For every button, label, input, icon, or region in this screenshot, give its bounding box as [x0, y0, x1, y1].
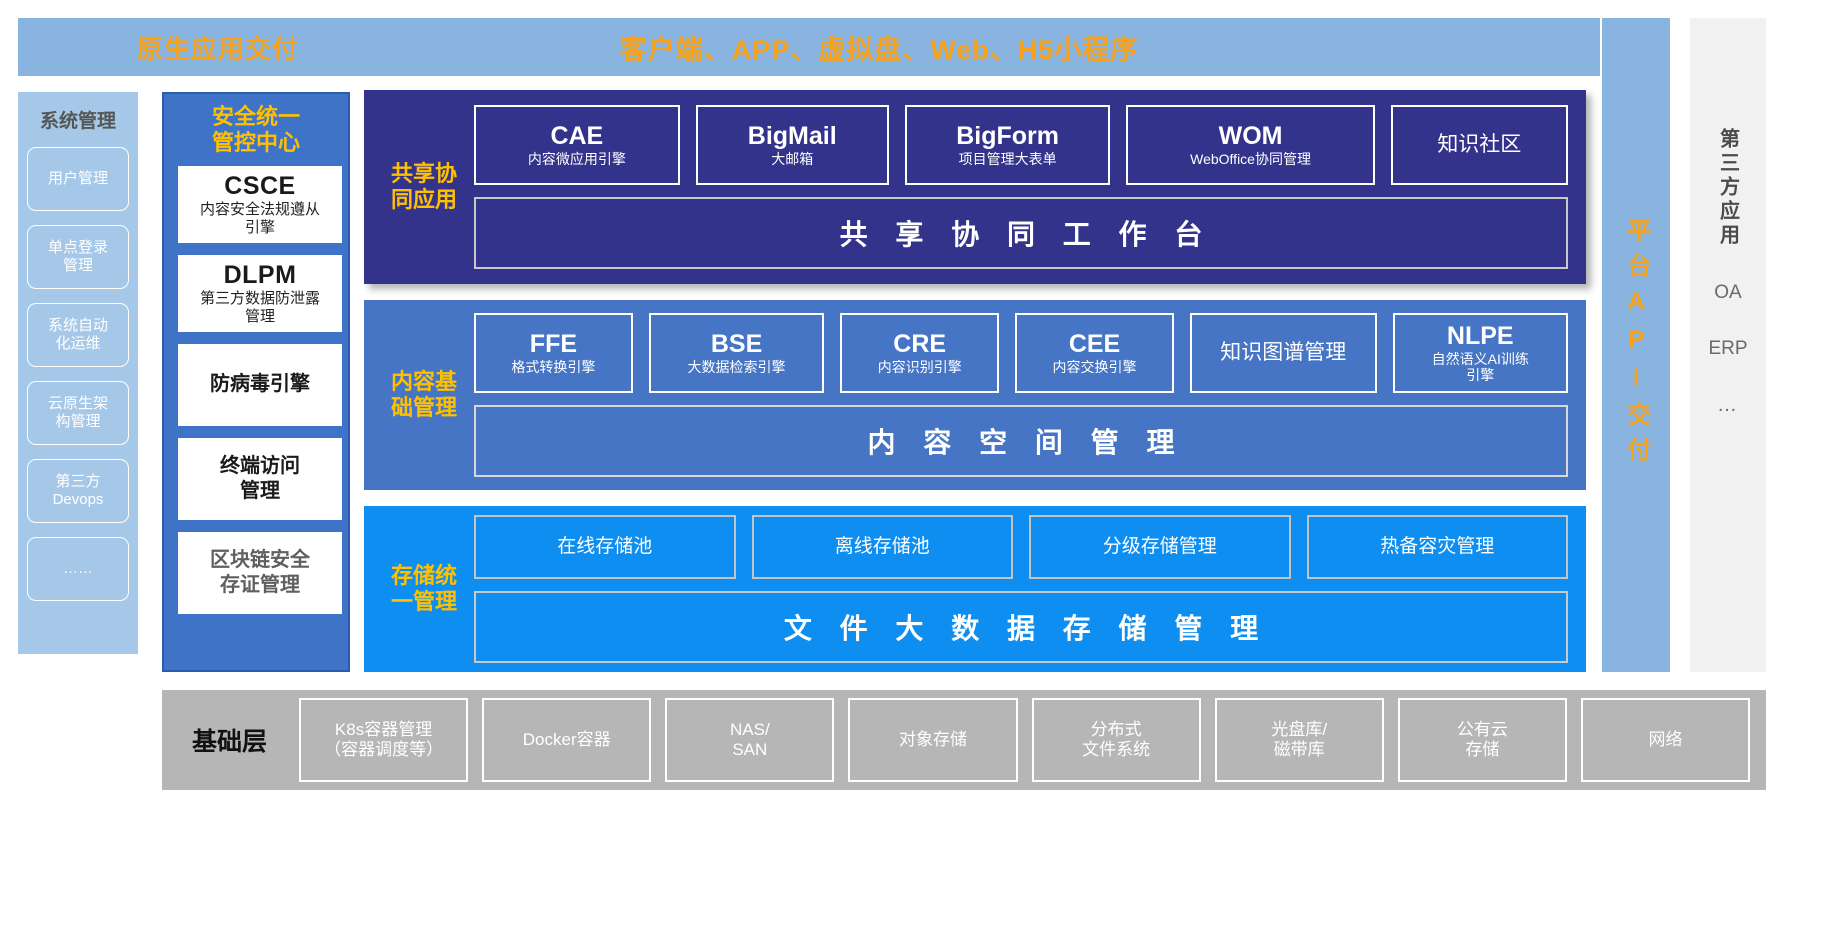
third-party-item-oa[interactable]: OA — [1714, 282, 1741, 304]
sidebar-item-more[interactable]: …… — [27, 537, 129, 601]
chip-nlpe[interactable]: NLPE 自然语义AI训练 引擎 — [1393, 313, 1568, 393]
storage-panel-label: 存储统 一管理 — [364, 563, 470, 614]
system-management-column: 系统管理 用户管理 单点登录 管理 系统自动 化运维 云原生架 构管理 第三方 … — [18, 92, 138, 654]
chip-bigform[interactable]: BigForm 项目管理大表单 — [905, 105, 1111, 185]
infra-chip-public-cloud-storage[interactable]: 公有云 存储 — [1398, 698, 1567, 782]
chip-cae[interactable]: CAE 内容微应用引擎 — [474, 105, 680, 185]
security-item-csce[interactable]: CSCE 内容安全法规遵从 引擎 — [178, 166, 342, 243]
cae-code: CAE — [550, 123, 603, 151]
bse-code: BSE — [711, 331, 762, 359]
bigmail-desc: 大邮箱 — [771, 151, 813, 167]
chip-ffe[interactable]: FFE 格式转换引擎 — [474, 313, 633, 393]
architecture-diagram: 原生应用交付 客户端、APP、虚拟盘、Web、H5小程序 系统管理 用户管理 单… — [0, 0, 1823, 928]
cre-desc: 内容识别引擎 — [878, 359, 962, 375]
collab-panel-label: 共享协 同应用 — [364, 161, 470, 212]
chip-knowledge-community[interactable]: 知识社区 — [1391, 105, 1568, 185]
wom-desc: WebOffice协同管理 — [1190, 151, 1311, 167]
bse-desc: 大数据检索引擎 — [688, 359, 786, 375]
sidebar-item-sso-management[interactable]: 单点登录 管理 — [27, 225, 129, 289]
bigform-desc: 项目管理大表单 — [959, 151, 1057, 167]
content-foundation-panel: 内容基 础管理 FFE 格式转换引擎 BSE 大数据检索引擎 CRE 内容识别引… — [364, 300, 1586, 490]
chip-cre[interactable]: CRE 内容识别引擎 — [840, 313, 999, 393]
platform-api-delivery-column: 平台API交付 — [1602, 18, 1670, 672]
chip-tiered-storage[interactable]: 分级存储管理 — [1029, 515, 1291, 579]
content-chip-row: FFE 格式转换引擎 BSE 大数据检索引擎 CRE 内容识别引擎 CEE 内容… — [474, 313, 1568, 393]
cee-desc: 内容交换引擎 — [1053, 359, 1137, 375]
security-item-terminal-access[interactable]: 终端访问 管理 — [178, 438, 342, 520]
tiered-storage-label: 分级存储管理 — [1103, 537, 1217, 558]
bigform-code: BigForm — [956, 123, 1059, 151]
chip-cee[interactable]: CEE 内容交换引擎 — [1015, 313, 1174, 393]
bigmail-code: BigMail — [748, 123, 837, 151]
shared-collaboration-panel: 共享协 同应用 CAE 内容微应用引擎 BigMail 大邮箱 BigForm … — [364, 90, 1586, 284]
top-delivery-banner: 原生应用交付 客户端、APP、虚拟盘、Web、H5小程序 — [18, 18, 1600, 76]
chip-bigmail[interactable]: BigMail 大邮箱 — [696, 105, 889, 185]
csce-desc: 内容安全法规遵从 引擎 — [200, 201, 320, 237]
security-column-title: 安全统一 管控中心 — [178, 104, 334, 156]
infra-chip-nas-san[interactable]: NAS/ SAN — [665, 698, 834, 782]
offline-storage-pool-label: 离线存储池 — [835, 537, 930, 558]
third-party-item-more[interactable]: … — [1717, 394, 1739, 417]
sidebar-item-third-party-devops[interactable]: 第三方 Devops — [27, 459, 129, 523]
infra-chip-distributed-fs[interactable]: 分布式 文件系统 — [1032, 698, 1201, 782]
third-party-item-erp[interactable]: ERP — [1708, 338, 1747, 360]
chip-online-storage-pool[interactable]: 在线存储池 — [474, 515, 736, 579]
collab-panel-body: CAE 内容微应用引擎 BigMail 大邮箱 BigForm 项目管理大表单 … — [470, 95, 1586, 279]
third-party-title: 第三方应用 — [1714, 128, 1743, 248]
chip-hot-backup-dr[interactable]: 热备容灾管理 — [1307, 515, 1569, 579]
infra-chip-docker[interactable]: Docker容器 — [482, 698, 651, 782]
wom-code: WOM — [1219, 123, 1283, 151]
security-item-antivirus-engine[interactable]: 防病毒引擎 — [178, 344, 342, 426]
chip-bse[interactable]: BSE 大数据检索引擎 — [649, 313, 824, 393]
ffe-code: FFE — [530, 331, 577, 359]
ffe-desc: 格式转换引擎 — [511, 359, 595, 375]
online-storage-pool-label: 在线存储池 — [557, 537, 652, 558]
content-panel-body: FFE 格式转换引擎 BSE 大数据检索引擎 CRE 内容识别引擎 CEE 内容… — [470, 303, 1586, 487]
sidebar-item-cloud-native-arch[interactable]: 云原生架 构管理 — [27, 381, 129, 445]
sidebar-item-automation-ops[interactable]: 系统自动 化运维 — [27, 303, 129, 367]
client-channels-label: 客户端、APP、虚拟盘、Web、H5小程序 — [418, 28, 1600, 67]
content-space-management-bar[interactable]: 内 容 空 间 管 理 — [474, 405, 1568, 477]
knowledge-graph-label: 知识图谱管理 — [1220, 341, 1346, 364]
security-control-center-column: 安全统一 管控中心 CSCE 内容安全法规遵从 引擎 DLPM 第三方数据防泄露… — [162, 92, 350, 672]
infra-chip-network[interactable]: 网络 — [1581, 698, 1750, 782]
cee-code: CEE — [1069, 331, 1120, 359]
content-panel-label: 内容基 础管理 — [364, 369, 470, 420]
third-party-apps-column: 第三方应用 OA ERP … — [1690, 18, 1766, 672]
storage-chip-row: 在线存储池 离线存储池 分级存储管理 热备容灾管理 — [474, 515, 1568, 579]
cre-code: CRE — [893, 331, 946, 359]
nlpe-code: NLPE — [1447, 323, 1514, 351]
infra-chip-k8s[interactable]: K8s容器管理 （容器调度等） — [299, 698, 468, 782]
security-item-blockchain-evidence[interactable]: 区块链安全 存证管理 — [178, 532, 342, 614]
chip-wom[interactable]: WOM WebOffice协同管理 — [1126, 105, 1374, 185]
infrastructure-title: 基础层 — [178, 722, 285, 758]
file-bigdata-storage-bar[interactable]: 文 件 大 数 据 存 储 管 理 — [474, 591, 1568, 663]
dlpm-desc: 第三方数据防泄露 管理 — [200, 290, 320, 326]
shared-collaboration-workbench-bar[interactable]: 共 享 协 同 工 作 台 — [474, 197, 1568, 269]
security-item-dlpm[interactable]: DLPM 第三方数据防泄露 管理 — [178, 255, 342, 332]
sidebar-item-user-management[interactable]: 用户管理 — [27, 147, 129, 211]
native-app-delivery-label: 原生应用交付 — [18, 29, 418, 66]
csce-code: CSCE — [224, 172, 295, 201]
infrastructure-layer-bar: 基础层 K8s容器管理 （容器调度等） Docker容器 NAS/ SAN 对象… — [162, 690, 1766, 790]
nlpe-desc: 自然语义AI训练 引擎 — [1432, 351, 1529, 383]
knowledge-community-label: 知识社区 — [1437, 133, 1521, 156]
chip-offline-storage-pool[interactable]: 离线存储池 — [752, 515, 1014, 579]
platform-api-label: 平台API交付 — [1622, 218, 1650, 472]
collab-chip-row: CAE 内容微应用引擎 BigMail 大邮箱 BigForm 项目管理大表单 … — [474, 105, 1568, 185]
dlpm-code: DLPM — [224, 261, 297, 290]
hot-backup-dr-label: 热备容灾管理 — [1380, 537, 1494, 558]
infra-chip-optical-tape-library[interactable]: 光盘库/ 磁带库 — [1215, 698, 1384, 782]
storage-unified-panel: 存储统 一管理 在线存储池 离线存储池 分级存储管理 热备容灾管理 文 件 大 … — [364, 506, 1586, 672]
storage-panel-body: 在线存储池 离线存储池 分级存储管理 热备容灾管理 文 件 大 数 据 存 储 … — [470, 505, 1586, 673]
system-management-title: 系统管理 — [18, 106, 138, 133]
cae-desc: 内容微应用引擎 — [528, 151, 626, 167]
chip-knowledge-graph[interactable]: 知识图谱管理 — [1190, 313, 1377, 393]
infra-chip-object-storage[interactable]: 对象存储 — [848, 698, 1017, 782]
